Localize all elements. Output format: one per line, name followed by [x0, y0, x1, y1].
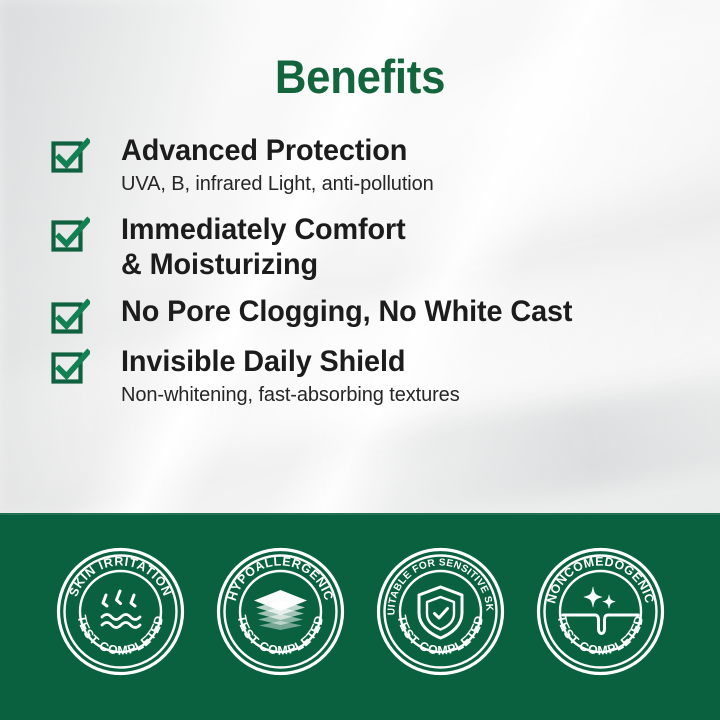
- layers-stack-icon: [254, 590, 307, 630]
- checkbox-checked-icon: [50, 136, 90, 176]
- page-title: Benefits: [25, 49, 695, 104]
- svg-text:TEST COMPLETED: TEST COMPLETED: [554, 614, 646, 658]
- benefit-heading: No Pore Clogging, No White Cast: [121, 294, 572, 329]
- checkbox-checked-icon: [50, 297, 90, 337]
- benefit-text-block: Immediately Comfort & Moisturizing: [90, 212, 418, 282]
- benefit-heading: Invisible Daily Shield: [121, 344, 446, 379]
- checkbox-checked-icon: [50, 215, 90, 255]
- benefit-text-block: Advanced Protection UVA, B, infrared Lig…: [90, 133, 434, 198]
- badge-skin-irritation: SKIN IRRITATION TEST COMPLETED: [54, 545, 187, 678]
- benefit-item-invisible-daily-shield: Invisible Daily Shield Non-whitening, fa…: [0, 344, 720, 409]
- checkbox-checked-icon: [50, 347, 90, 387]
- badge-suitable-for-sensitive-skin: SUITABLE FOR SENSITIVE SKIN TEST COMPLET…: [374, 545, 507, 678]
- benefit-item-immediately-comfort: Immediately Comfort & Moisturizing: [0, 212, 720, 282]
- badge-bottom-label: TEST COMPLETED: [554, 614, 646, 658]
- band-top-divider: [0, 513, 720, 515]
- shield-check-icon: [419, 587, 462, 638]
- skin-irritation-icon: [102, 591, 140, 628]
- benefit-item-no-pore-clogging: No Pore Clogging, No White Cast: [0, 294, 720, 337]
- benefit-text-block: No Pore Clogging, No White Cast: [90, 294, 591, 329]
- badge-noncomedogenic: NONCOMEDOGENIC TEST COMPLETED: [534, 545, 667, 678]
- benefit-heading: Immediately Comfort & Moisturizing: [121, 212, 406, 282]
- pore-sparkle-icon: [563, 587, 638, 634]
- benefit-subtext: UVA, B, infrared Light, anti-pollution: [121, 171, 434, 198]
- benefit-text-block: Invisible Daily Shield Non-whitening, fa…: [90, 344, 460, 409]
- badge-hypoallergenic: HYPOALLERGENIC TEST COMPLETED: [214, 545, 347, 678]
- badge-bottom-label: TEST COMPLETED: [394, 614, 486, 658]
- benefits-list: Advanced Protection UVA, B, infrared Lig…: [0, 133, 720, 409]
- svg-text:TEST COMPLETED: TEST COMPLETED: [394, 614, 486, 658]
- badge-bottom-label: TEST COMPLETED: [74, 614, 166, 658]
- product-benefits-graphic: Benefits Advanced Protection UVA, B, inf…: [0, 0, 720, 720]
- svg-text:TEST COMPLETED: TEST COMPLETED: [74, 614, 166, 658]
- certification-band: SKIN IRRITATION TEST COMPLETED: [0, 513, 720, 720]
- benefit-subtext: Non-whitening, fast-absorbing textures: [121, 382, 460, 409]
- benefit-item-advanced-protection: Advanced Protection UVA, B, infrared Lig…: [0, 133, 720, 198]
- benefit-heading: Advanced Protection: [121, 133, 421, 168]
- certification-badge-row: SKIN IRRITATION TEST COMPLETED: [0, 545, 720, 678]
